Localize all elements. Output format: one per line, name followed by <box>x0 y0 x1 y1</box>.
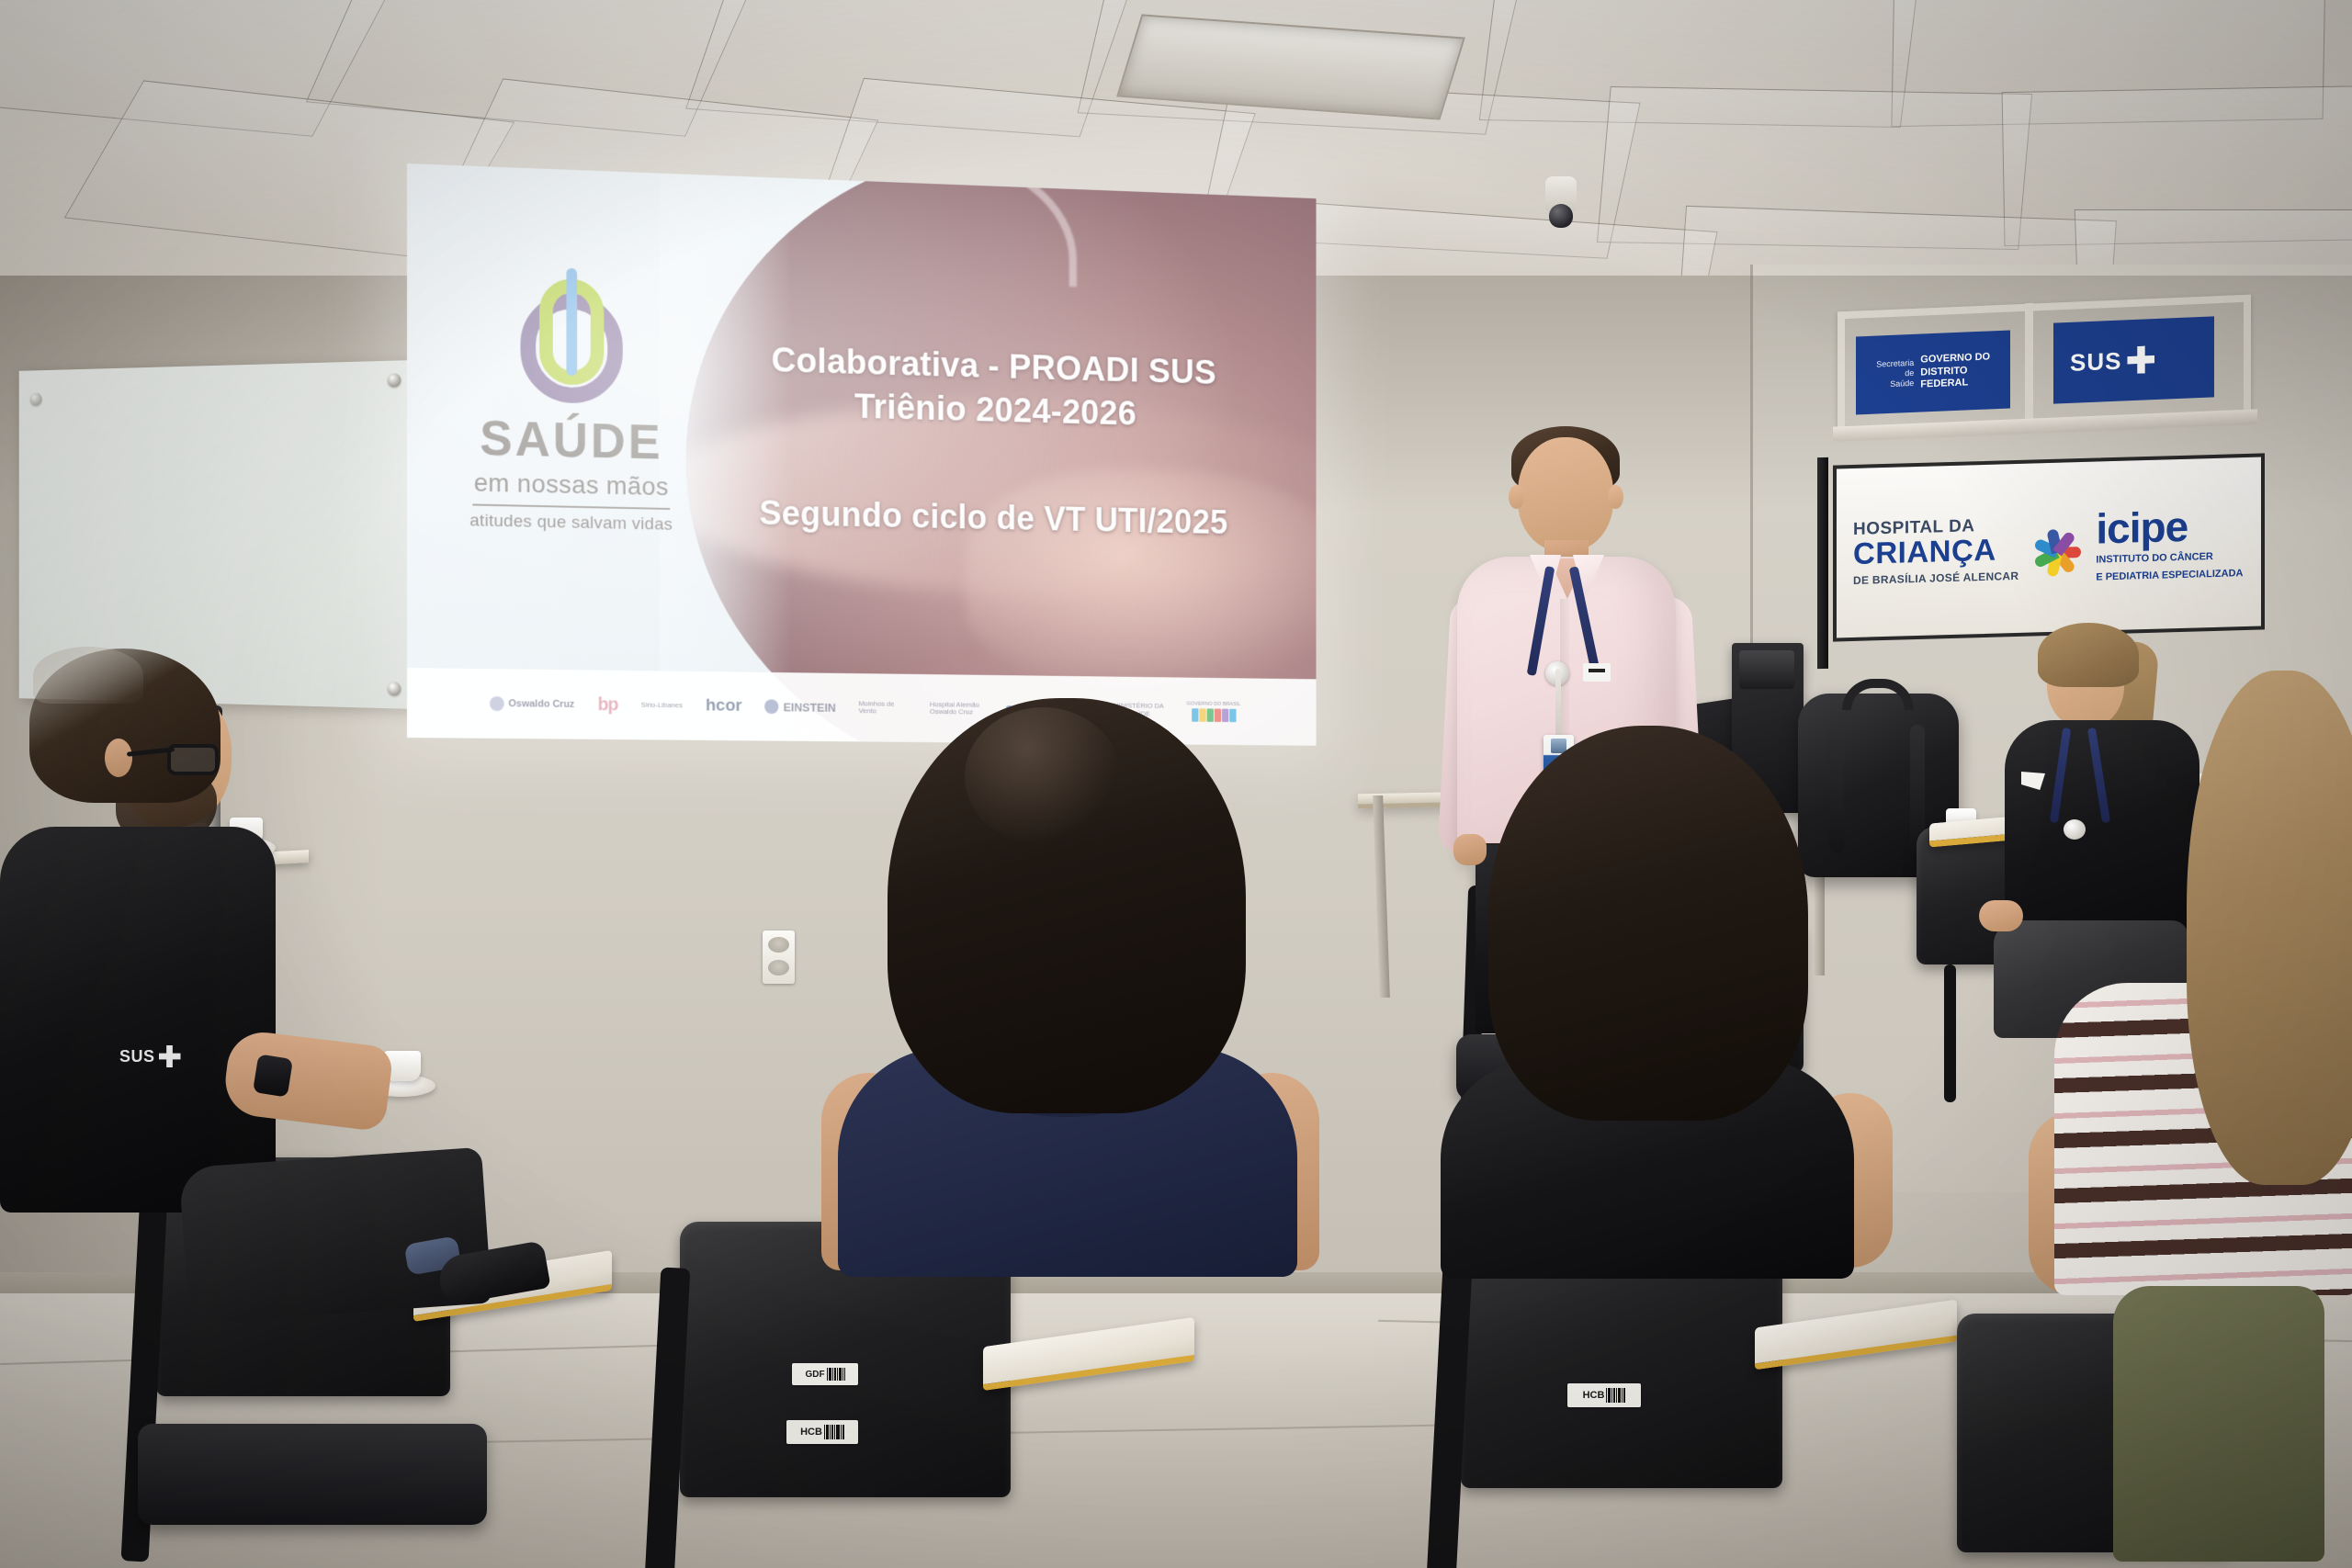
saude-em-nossas-maos-logo: SAÚDE em nossas mãos atitudes que salvam… <box>451 265 692 536</box>
logo-subtitle: em nossas mãos <box>451 468 692 502</box>
icipe-subtitle-2: E PEDIATRIA ESPECIALIZADA <box>2096 568 2243 584</box>
projected-slide: SAÚDE em nossas mãos atitudes que salvam… <box>407 164 1317 746</box>
person-attendee-center <box>808 698 1323 1268</box>
hcb-line2: CRIANÇA <box>1853 533 2018 568</box>
attendee-left-hair-highlight <box>33 647 143 704</box>
presenter-pocket-tag <box>1583 663 1611 682</box>
attendee-far-right-hair <box>2187 671 2352 1185</box>
sign-sus: SUS <box>2053 316 2214 403</box>
attendee-right-hand <box>1979 900 2023 931</box>
attendee-left-ear <box>105 739 132 777</box>
hcb-line3: DE BRASÍLIA JOSÉ ALENCAR <box>1853 570 2018 585</box>
asset-tag-chair-foreground-center-1: GDF <box>792 1363 858 1385</box>
sign-hospital-da-crianca: HOSPITAL DA CRIANÇA DE BRASÍLIA JOSÉ ALE… <box>1833 453 2265 641</box>
attendee-right-hair-top <box>2038 623 2139 687</box>
presenter-ear-left <box>1509 485 1524 509</box>
partner-logo-bp: bp <box>598 694 618 716</box>
sus-cross-icon <box>2127 345 2154 374</box>
person-attendee-center-right <box>1433 726 1874 1277</box>
sus-label: SUS <box>2070 346 2121 377</box>
sign-governo-distrito-federal: Secretaria de Saúde GOVERNO DO DISTRITO … <box>1856 330 2010 414</box>
window-mullion <box>2025 303 2033 427</box>
logo-tagline: atitudes que salvam vidas <box>451 511 692 536</box>
partner-logo-sirio-libanes: Sirio-Libanes <box>641 702 683 710</box>
power-outlet <box>763 931 795 984</box>
person-attendee-far-right <box>2076 680 2352 1295</box>
sus-shirt-cross-icon <box>159 1045 181 1067</box>
hand-logo-icon <box>515 266 628 404</box>
attendee-center-hair-sheen <box>965 707 1121 845</box>
slide-headline-block: Colaborativa - PROADI SUS Triênio 2024-2… <box>683 335 1301 544</box>
partner-logo-oswaldo-cruz: Oswaldo Cruz <box>490 696 575 712</box>
icipe-subtitle-1: INSTITUTO DO CÂNCER <box>2096 550 2243 567</box>
attendee-left-legs <box>178 1147 492 1325</box>
partner-logo-hcor: hcor <box>706 696 742 716</box>
attendee-left-wristwatch <box>253 1054 293 1097</box>
asset-tag-chair-foreground-center-2: HCB <box>786 1420 858 1444</box>
banner-pole <box>1817 457 1828 669</box>
sus-shirt-logo: SUS <box>119 1045 181 1067</box>
person-attendee-left: SUS <box>9 643 432 1304</box>
presenter-ear-right <box>1608 485 1623 509</box>
training-room-photo: SAÚDE em nossas mãos atitudes que salvam… <box>0 0 2352 1568</box>
attendee-left-polo-shirt <box>0 827 276 1213</box>
gdf-secretaria-line1: Secretaria de <box>1869 358 1914 380</box>
attendee-far-right-trousers <box>2113 1286 2324 1562</box>
security-camera-icon <box>1545 176 1577 228</box>
logo-divider <box>472 503 670 509</box>
icipe-wordmark: icipe <box>2096 503 2243 549</box>
asset-tag-chair-foreground-right: HCB <box>1567 1383 1641 1407</box>
gdf-secretaria-line2: Saúde <box>1869 378 1914 390</box>
glasses-lens-icon <box>167 744 219 775</box>
pinwheel-icon <box>2031 521 2083 574</box>
attendee-center-right-hair <box>1488 726 1808 1121</box>
gdf-governo-line2: DISTRITO FEDERAL <box>1920 363 2010 391</box>
presenter-head <box>1518 437 1613 551</box>
logo-brand-word: SAÚDE <box>451 412 692 468</box>
